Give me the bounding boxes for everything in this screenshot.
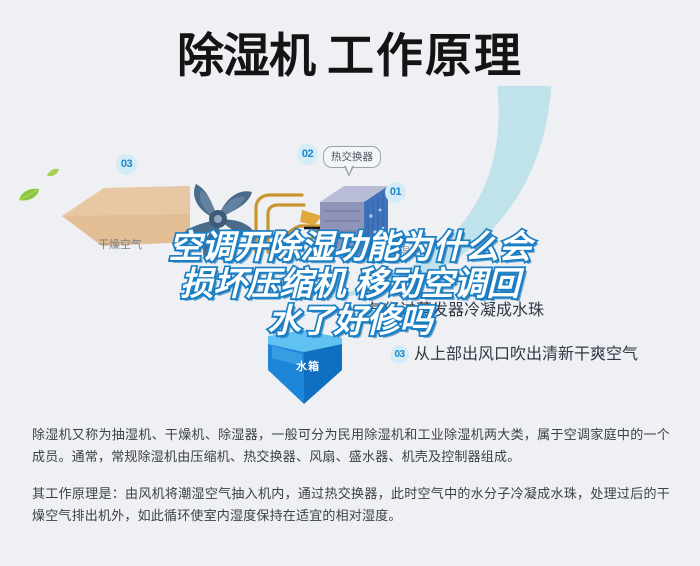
step-badge-02-top: 02 (297, 144, 318, 165)
step-caption-03-text: 从上部出风口吹出清新干爽空气 (414, 346, 638, 363)
page-title-part2: 工作原理 (327, 29, 523, 82)
overlay-headline-line3: 水了好修吗 (0, 302, 700, 339)
dry-air-label: 干燥空气 (98, 236, 142, 252)
step-caption-02-text: 气经过蒸发器冷凝成水珠 (368, 302, 544, 319)
step-badge-01-top: 01 (385, 182, 406, 203)
hero-illustration: 除湿机工作原理 干燥空气 (0, 0, 700, 412)
page-title: 除湿机工作原理 (0, 32, 700, 79)
overlay-headline-line2: 损坏压缩机 移动空调回 (0, 265, 700, 302)
article-paragraph-2: 其工作原理是：由风机将潮湿空气抽入机内，通过热交换器，此时空气中的水分子冷凝成水… (32, 483, 670, 527)
humid-air-label: 潮湿空气 (388, 243, 432, 259)
step-badge-03-top: 03 (116, 154, 137, 175)
step-caption-03: 03从上部出风口吹出清新干爽空气 (390, 340, 638, 364)
heat-exchanger-callout: 热交换器 (323, 146, 381, 168)
leaf-icon (18, 188, 40, 207)
page-title-part1: 除湿机 (177, 29, 315, 82)
article-body: 除湿机又称为抽湿机、干燥机、除湿器，一般可分为民用除湿机和工业除湿机两大类，属于… (0, 412, 700, 527)
step-caption-02: 气经过蒸发器冷凝成水珠 (368, 296, 544, 320)
leaf-icon (47, 164, 59, 182)
article-paragraph-1: 除湿机又称为抽湿机、干燥机、除湿器，一般可分为民用除湿机和工业除湿机两大类，属于… (32, 424, 670, 468)
water-tank-label: 水箱 (296, 358, 320, 374)
step-badge-03-inline: 03 (390, 345, 409, 364)
callout-pointer-icon (344, 166, 354, 177)
